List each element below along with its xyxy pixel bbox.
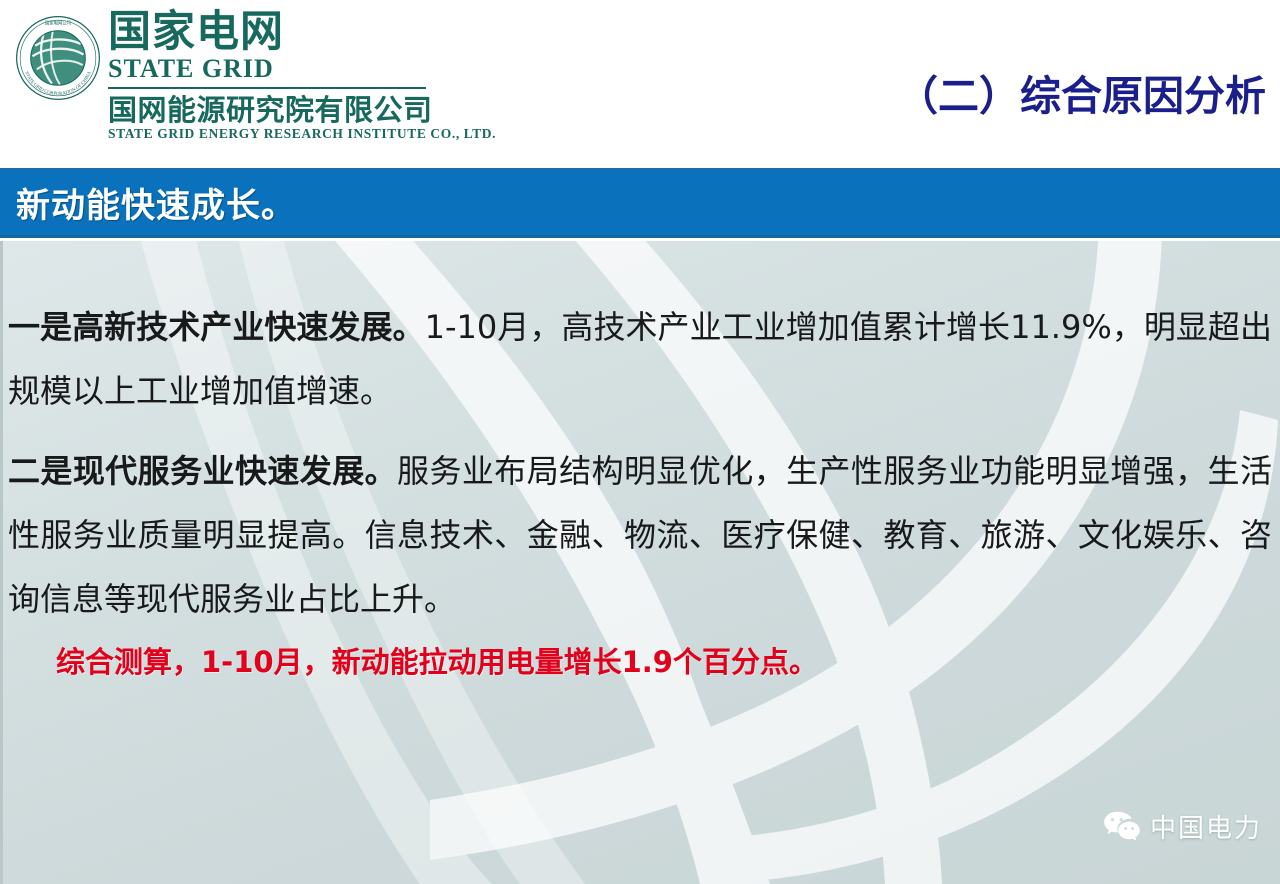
logo-cn-main: 国家电网 [108, 10, 448, 54]
logo-en-sub: STATE GRID ENERGY RESEARCH INSTITUTE CO.… [108, 126, 448, 142]
page-title: （二）综合原因分析 [897, 62, 1266, 122]
wechat-account-badge: 中国电力 [1103, 806, 1262, 846]
section-banner: 新动能快速成长。 [0, 168, 1280, 238]
paragraph-one: 一是高新技术产业快速发展。1-10月，高技术产业工业增加值累计增长11.9%，明… [8, 295, 1272, 423]
logo-en-main: STATE GRID [108, 54, 448, 83]
svg-text:国家电网公司: 国家电网公司 [45, 20, 71, 27]
paragraph-two: 二是现代服务业快速发展。服务业布局结构明显优化，生产性服务业功能明显增强，生活性… [8, 439, 1272, 631]
wechat-icon [1103, 810, 1141, 842]
state-grid-logo: 国家电网公司 STATE GRID CORPORATION OF CHINA 国… [8, 6, 448, 154]
slide-root: 国家电网公司 STATE GRID CORPORATION OF CHINA 国… [0, 0, 1280, 884]
slide-content: 一是高新技术产业快速发展。1-10月，高技术产业工业增加值累计增长11.9%，明… [0, 241, 1280, 884]
logo-cn-sub: 国网能源研究院有限公司 [108, 94, 448, 126]
slide-header: 国家电网公司 STATE GRID CORPORATION OF CHINA 国… [0, 0, 1280, 162]
logo-divider [108, 87, 426, 89]
logo-wordmark: 国家电网 STATE GRID 国网能源研究院有限公司 STATE GRID E… [108, 10, 448, 142]
paragraph-two-lead: 二是现代服务业快速发展。 [8, 452, 397, 490]
paragraph-one-lead: 一是高新技术产业快速发展。 [8, 308, 425, 346]
wechat-account-name: 中国电力 [1150, 808, 1262, 845]
section-banner-label: 新动能快速成长。 [16, 178, 296, 227]
state-grid-globe-emblem-icon: 国家电网公司 STATE GRID CORPORATION OF CHINA [14, 14, 102, 102]
highlight-conclusion: 综合测算，1-10月，新动能拉动用电量增长1.9个百分点。 [56, 639, 818, 681]
